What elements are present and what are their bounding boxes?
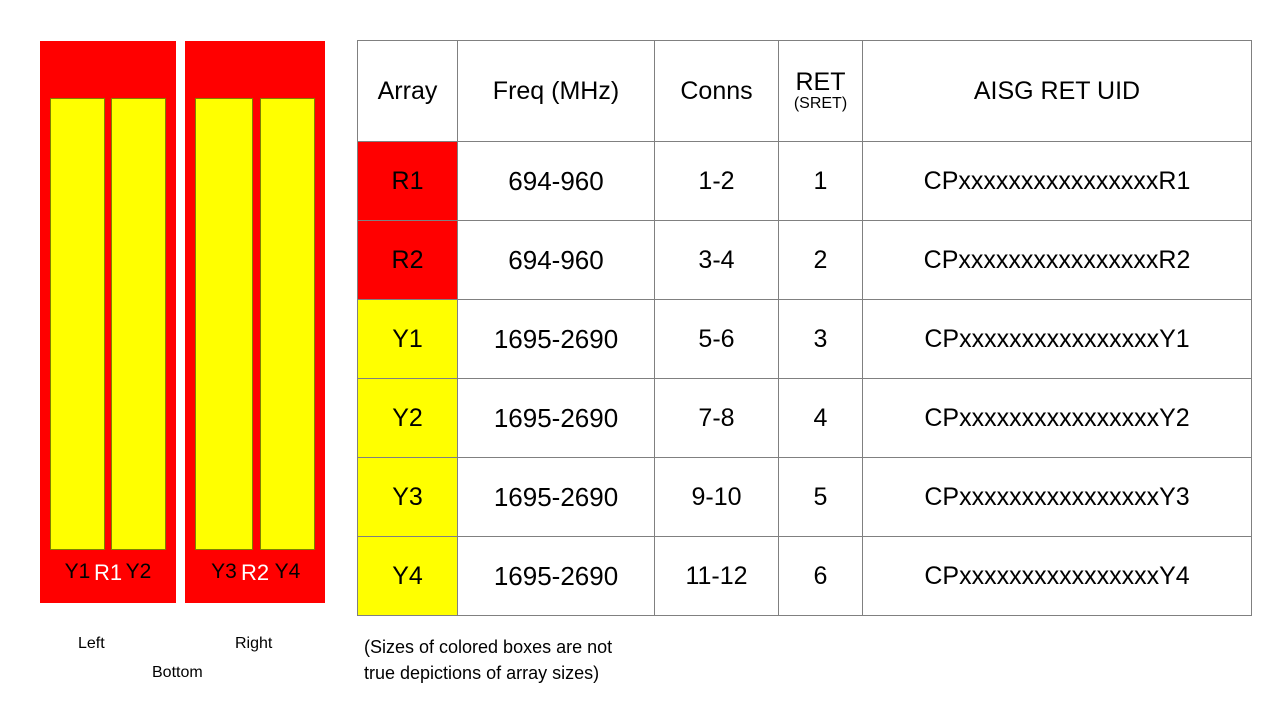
- table-row: R2 694-960 3-4 2 CPxxxxxxxxxxxxxxxxR2: [358, 221, 1252, 300]
- column-header-ret-subtext: (SRET): [779, 96, 862, 113]
- cell-array: Y1: [358, 300, 458, 379]
- antenna-array-diagram: Y1 Y2 R1 Y3 Y4 R2 Left Right Bottom: [0, 0, 350, 720]
- sub-array-y3: Y3: [195, 98, 253, 550]
- cell-ret: 5: [779, 458, 863, 537]
- cell-uid: CPxxxxxxxxxxxxxxxxY1: [863, 300, 1252, 379]
- orientation-label-bottom: Bottom: [152, 664, 203, 682]
- sub-array-y1: Y1: [50, 98, 105, 550]
- cell-uid: CPxxxxxxxxxxxxxxxxR2: [863, 221, 1252, 300]
- column-header-array-text: Array: [358, 78, 457, 104]
- table-header-row: Array Freq (MHz) Conns RET (SRET) AISG R…: [358, 41, 1252, 142]
- cell-freq: 694-960: [458, 221, 655, 300]
- table-row: Y1 1695-2690 5-6 3 CPxxxxxxxxxxxxxxxxY1: [358, 300, 1252, 379]
- column-header-uid: AISG RET UID: [863, 41, 1252, 142]
- table-row: R1 694-960 1-2 1 CPxxxxxxxxxxxxxxxxR1: [358, 142, 1252, 221]
- cell-array: R1: [358, 142, 458, 221]
- cell-freq: 694-960: [458, 142, 655, 221]
- cell-uid: CPxxxxxxxxxxxxxxxxY4: [863, 537, 1252, 616]
- cell-freq: 1695-2690: [458, 537, 655, 616]
- cell-conns: 1-2: [655, 142, 779, 221]
- table-row: Y3 1695-2690 9-10 5 CPxxxxxxxxxxxxxxxxY3: [358, 458, 1252, 537]
- cell-uid: CPxxxxxxxxxxxxxxxxR1: [863, 142, 1252, 221]
- orientation-label-right: Right: [235, 635, 272, 653]
- cell-ret: 1: [779, 142, 863, 221]
- table-footnote-line2: true depictions of array sizes): [364, 660, 784, 686]
- cell-uid: CPxxxxxxxxxxxxxxxxY3: [863, 458, 1252, 537]
- sub-array-y4: Y4: [260, 98, 315, 550]
- column-header-conns: Conns: [655, 41, 779, 142]
- array-configuration-table: Array Freq (MHz) Conns RET (SRET) AISG R…: [357, 40, 1252, 616]
- table-footnote-line1: (Sizes of colored boxes are not: [364, 634, 784, 660]
- table-row: Y2 1695-2690 7-8 4 CPxxxxxxxxxxxxxxxxY2: [358, 379, 1252, 458]
- cell-freq: 1695-2690: [458, 379, 655, 458]
- array-panel-r1: Y1 Y2 R1: [40, 41, 176, 603]
- cell-array: Y3: [358, 458, 458, 537]
- cell-ret: 3: [779, 300, 863, 379]
- cell-ret: 2: [779, 221, 863, 300]
- column-header-array: Array: [358, 41, 458, 142]
- column-header-freq-text: Freq (MHz): [458, 78, 654, 104]
- cell-array: R2: [358, 221, 458, 300]
- table-footnote: (Sizes of colored boxes are not true dep…: [364, 634, 784, 686]
- table-header: Array Freq (MHz) Conns RET (SRET) AISG R…: [358, 41, 1252, 142]
- column-header-ret: RET (SRET): [779, 41, 863, 142]
- orientation-label-left: Left: [78, 635, 105, 653]
- cell-conns: 9-10: [655, 458, 779, 537]
- cell-freq: 1695-2690: [458, 300, 655, 379]
- table-body: R1 694-960 1-2 1 CPxxxxxxxxxxxxxxxxR1 R2…: [358, 142, 1252, 616]
- column-header-ret-text: RET: [779, 69, 862, 95]
- array-panel-label-r1: R1: [40, 562, 176, 584]
- column-header-uid-text: AISG RET UID: [863, 78, 1251, 104]
- array-panel-r2: Y3 Y4 R2: [185, 41, 325, 603]
- column-header-freq: Freq (MHz): [458, 41, 655, 142]
- cell-array: Y2: [358, 379, 458, 458]
- array-panel-label-r2: R2: [185, 562, 325, 584]
- cell-conns: 5-6: [655, 300, 779, 379]
- cell-uid: CPxxxxxxxxxxxxxxxxY2: [863, 379, 1252, 458]
- cell-ret: 4: [779, 379, 863, 458]
- column-header-conns-text: Conns: [655, 78, 778, 104]
- cell-array: Y4: [358, 537, 458, 616]
- cell-ret: 6: [779, 537, 863, 616]
- cell-conns: 11-12: [655, 537, 779, 616]
- cell-conns: 7-8: [655, 379, 779, 458]
- cell-freq: 1695-2690: [458, 458, 655, 537]
- table-row: Y4 1695-2690 11-12 6 CPxxxxxxxxxxxxxxxxY…: [358, 537, 1252, 616]
- sub-array-y2: Y2: [111, 98, 166, 550]
- cell-conns: 3-4: [655, 221, 779, 300]
